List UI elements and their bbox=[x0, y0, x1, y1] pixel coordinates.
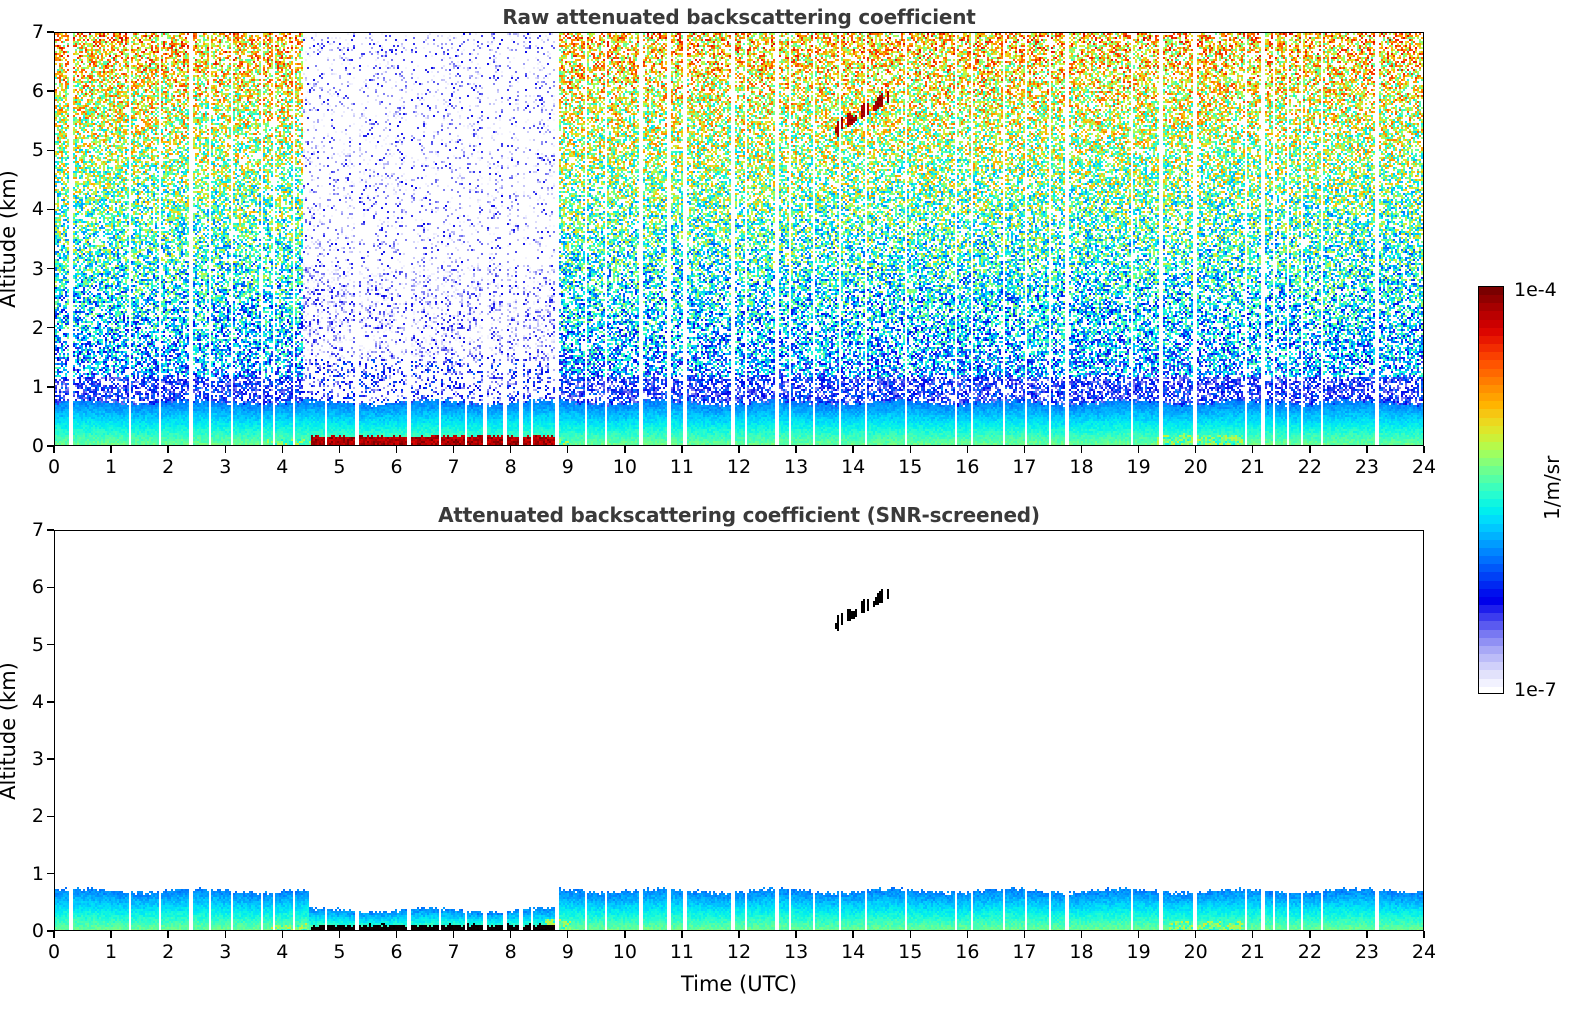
x-tick-mark bbox=[339, 446, 340, 453]
colorbar-segment bbox=[1479, 458, 1503, 466]
x-tick-mark bbox=[225, 931, 226, 938]
x-tick-label: 24 bbox=[1412, 456, 1436, 478]
x-tick-mark bbox=[1423, 931, 1424, 938]
x-tick-mark bbox=[167, 931, 168, 938]
x-tick-mark bbox=[1309, 931, 1310, 938]
x-tick-mark bbox=[282, 446, 283, 453]
x-tick-mark bbox=[510, 931, 511, 938]
colorbar-segment bbox=[1479, 311, 1503, 319]
x-tick-mark bbox=[396, 931, 397, 938]
y-tick-mark bbox=[47, 268, 54, 269]
y-tick-mark bbox=[47, 445, 54, 446]
raw-backscatter-heatmap bbox=[55, 33, 1424, 446]
colorbar-segment bbox=[1479, 687, 1503, 694]
x-tick-label: 20 bbox=[1184, 941, 1208, 963]
y-tick-mark bbox=[47, 386, 54, 387]
colorbar-segment bbox=[1479, 613, 1503, 621]
colorbar-segment bbox=[1479, 524, 1503, 532]
x-tick-label: 23 bbox=[1355, 456, 1379, 478]
x-tick-label: 6 bbox=[390, 456, 402, 478]
x-tick-label: 4 bbox=[276, 941, 288, 963]
x-tick-mark bbox=[1366, 931, 1367, 938]
y-tick-label: 1 bbox=[14, 863, 44, 885]
x-tick-mark bbox=[795, 446, 796, 453]
raw-panel-title: Raw attenuated backscattering coefficien… bbox=[54, 5, 1424, 29]
lidar-quicklook-figure: Raw attenuated backscattering coefficien… bbox=[0, 0, 1595, 1020]
x-tick-mark bbox=[1195, 446, 1196, 453]
colorbar-segment bbox=[1479, 336, 1503, 344]
x-tick-label: 6 bbox=[390, 941, 402, 963]
y-tick-mark bbox=[47, 209, 54, 210]
x-tick-label: 1 bbox=[105, 941, 117, 963]
screened-panel-title: Attenuated backscattering coefficient (S… bbox=[54, 503, 1424, 527]
colorbar-segment bbox=[1479, 426, 1503, 434]
x-tick-label: 11 bbox=[670, 941, 694, 963]
x-tick-mark bbox=[624, 931, 625, 938]
x-tick-label: 23 bbox=[1355, 941, 1379, 963]
colorbar-segment bbox=[1479, 499, 1503, 507]
colorbar-segment bbox=[1479, 589, 1503, 597]
x-tick-mark bbox=[1081, 446, 1082, 453]
x-tick-label: 15 bbox=[898, 456, 922, 478]
colorbar-segment bbox=[1479, 532, 1503, 540]
colorbar-segment bbox=[1479, 540, 1503, 548]
x-tick-label: 1 bbox=[105, 456, 117, 478]
colorbar-segment bbox=[1479, 638, 1503, 646]
colorbar-segment bbox=[1479, 572, 1503, 580]
y-tick-label: 2 bbox=[14, 805, 44, 827]
x-tick-label: 13 bbox=[784, 941, 808, 963]
colorbar-segment bbox=[1479, 548, 1503, 556]
colorbar-segment bbox=[1479, 450, 1503, 458]
x-tick-mark bbox=[1024, 446, 1025, 453]
x-tick-label: 16 bbox=[955, 941, 979, 963]
y-tick-label: 5 bbox=[14, 139, 44, 161]
x-tick-mark bbox=[1195, 931, 1196, 938]
colorbar-segment bbox=[1479, 491, 1503, 499]
colorbar-segment bbox=[1479, 360, 1503, 368]
x-tick-label: 14 bbox=[841, 456, 865, 478]
x-tick-label: 22 bbox=[1298, 456, 1322, 478]
x-tick-label: 15 bbox=[898, 941, 922, 963]
colorbar-min-label: 1e-7 bbox=[1514, 679, 1557, 701]
x-tick-mark bbox=[567, 931, 568, 938]
x-tick-mark bbox=[1252, 931, 1253, 938]
x-tick-label: 19 bbox=[1126, 941, 1150, 963]
x-tick-label: 21 bbox=[1241, 941, 1265, 963]
colorbar-segment bbox=[1479, 369, 1503, 377]
colorbar-units-label: 1/m/sr bbox=[1540, 456, 1564, 520]
x-tick-label: 18 bbox=[1069, 941, 1093, 963]
x-tick-mark bbox=[967, 931, 968, 938]
x-tick-label: 3 bbox=[219, 456, 231, 478]
x-tick-label: 0 bbox=[48, 456, 60, 478]
x-tick-mark bbox=[453, 446, 454, 453]
y-tick-mark bbox=[47, 816, 54, 817]
colorbar-segment bbox=[1479, 344, 1503, 352]
x-tick-mark bbox=[1252, 446, 1253, 453]
colorbar-segment bbox=[1479, 475, 1503, 483]
x-tick-mark bbox=[852, 931, 853, 938]
x-tick-label: 0 bbox=[48, 941, 60, 963]
raw-panel-y-axis-label: Altitude (km) bbox=[0, 170, 20, 308]
x-tick-label: 19 bbox=[1126, 456, 1150, 478]
y-tick-label: 7 bbox=[14, 21, 44, 43]
colorbar-segment bbox=[1479, 605, 1503, 613]
colorbar-segment bbox=[1479, 515, 1503, 523]
y-tick-label: 6 bbox=[14, 576, 44, 598]
y-tick-mark bbox=[47, 90, 54, 91]
x-tick-mark bbox=[339, 931, 340, 938]
colorbar-segment bbox=[1479, 662, 1503, 670]
y-tick-mark bbox=[47, 529, 54, 530]
x-tick-label: 12 bbox=[727, 941, 751, 963]
x-tick-mark bbox=[1138, 446, 1139, 453]
x-tick-label: 18 bbox=[1069, 456, 1093, 478]
colorbar-segment bbox=[1479, 507, 1503, 515]
raw-panel-axes bbox=[54, 32, 1424, 446]
x-tick-label: 9 bbox=[562, 456, 574, 478]
x-tick-mark bbox=[453, 931, 454, 938]
colorbar-segment bbox=[1479, 483, 1503, 491]
y-tick-mark bbox=[47, 327, 54, 328]
x-tick-label: 14 bbox=[841, 941, 865, 963]
x-tick-mark bbox=[910, 931, 911, 938]
x-tick-label: 5 bbox=[333, 456, 345, 478]
x-tick-mark bbox=[681, 931, 682, 938]
x-tick-mark bbox=[624, 446, 625, 453]
x-tick-label: 17 bbox=[1012, 456, 1036, 478]
y-tick-mark bbox=[47, 150, 54, 151]
y-tick-label: 2 bbox=[14, 317, 44, 339]
colorbar-segment bbox=[1479, 377, 1503, 385]
colorbar-segment bbox=[1479, 287, 1503, 295]
y-tick-mark bbox=[47, 587, 54, 588]
x-tick-label: 2 bbox=[162, 941, 174, 963]
colorbar-segment bbox=[1479, 385, 1503, 393]
x-tick-mark bbox=[510, 446, 511, 453]
colorbar-segment bbox=[1479, 320, 1503, 328]
colorbar-segment bbox=[1479, 418, 1503, 426]
x-tick-mark bbox=[53, 446, 54, 453]
colorbar-segment bbox=[1479, 581, 1503, 589]
y-tick-mark bbox=[47, 930, 54, 931]
x-tick-mark bbox=[1309, 446, 1310, 453]
x-tick-label: 2 bbox=[162, 456, 174, 478]
colorbar-segment bbox=[1479, 393, 1503, 401]
colorbar-segment bbox=[1479, 466, 1503, 474]
colorbar-max-label: 1e-4 bbox=[1514, 279, 1557, 301]
x-tick-mark bbox=[967, 446, 968, 453]
x-tick-label: 20 bbox=[1184, 456, 1208, 478]
colorbar-segment bbox=[1479, 303, 1503, 311]
x-tick-label: 24 bbox=[1412, 941, 1436, 963]
x-tick-mark bbox=[910, 446, 911, 453]
colorbar-segment bbox=[1479, 556, 1503, 564]
x-tick-label: 10 bbox=[613, 941, 637, 963]
y-tick-label: 0 bbox=[14, 435, 44, 457]
x-tick-label: 7 bbox=[448, 941, 460, 963]
colorbar-segment bbox=[1479, 646, 1503, 654]
colorbar-segment bbox=[1479, 352, 1503, 360]
screened-panel-x-axis-label: Time (UTC) bbox=[681, 972, 797, 996]
x-tick-mark bbox=[1423, 446, 1424, 453]
x-tick-mark bbox=[1138, 931, 1139, 938]
colorbar-segment bbox=[1479, 434, 1503, 442]
colorbar-segment bbox=[1479, 597, 1503, 605]
x-tick-mark bbox=[681, 446, 682, 453]
y-tick-mark bbox=[47, 758, 54, 759]
x-tick-mark bbox=[1024, 931, 1025, 938]
x-tick-mark bbox=[852, 446, 853, 453]
colorbar-segment bbox=[1479, 621, 1503, 629]
colorbar-segment bbox=[1479, 409, 1503, 417]
screened-backscatter-heatmap bbox=[55, 531, 1424, 931]
x-tick-mark bbox=[738, 931, 739, 938]
x-tick-label: 7 bbox=[448, 456, 460, 478]
colorbar-segment bbox=[1479, 564, 1503, 572]
x-tick-label: 21 bbox=[1241, 456, 1265, 478]
backscatter-colorbar bbox=[1478, 286, 1504, 694]
y-tick-mark bbox=[47, 644, 54, 645]
y-tick-label: 1 bbox=[14, 376, 44, 398]
y-tick-mark bbox=[47, 873, 54, 874]
x-tick-mark bbox=[110, 446, 111, 453]
x-tick-label: 16 bbox=[955, 456, 979, 478]
y-tick-label: 0 bbox=[14, 920, 44, 942]
colorbar-segment bbox=[1479, 401, 1503, 409]
x-tick-mark bbox=[1366, 446, 1367, 453]
x-tick-label: 3 bbox=[219, 941, 231, 963]
x-tick-mark bbox=[738, 446, 739, 453]
y-tick-label: 5 bbox=[14, 634, 44, 656]
y-tick-mark bbox=[47, 701, 54, 702]
colorbar-segment bbox=[1479, 670, 1503, 678]
x-tick-mark bbox=[567, 446, 568, 453]
x-tick-label: 12 bbox=[727, 456, 751, 478]
x-tick-label: 11 bbox=[670, 456, 694, 478]
colorbar-segment bbox=[1479, 679, 1503, 687]
x-tick-label: 8 bbox=[505, 941, 517, 963]
y-tick-label: 7 bbox=[14, 519, 44, 541]
x-tick-label: 13 bbox=[784, 456, 808, 478]
x-tick-mark bbox=[396, 446, 397, 453]
x-tick-mark bbox=[167, 446, 168, 453]
x-tick-label: 10 bbox=[613, 456, 637, 478]
colorbar-segment bbox=[1479, 442, 1503, 450]
x-tick-label: 4 bbox=[276, 456, 288, 478]
x-tick-mark bbox=[110, 931, 111, 938]
x-tick-mark bbox=[53, 931, 54, 938]
x-tick-mark bbox=[225, 446, 226, 453]
x-tick-label: 8 bbox=[505, 456, 517, 478]
y-tick-mark bbox=[47, 31, 54, 32]
x-tick-label: 17 bbox=[1012, 941, 1036, 963]
x-tick-mark bbox=[795, 931, 796, 938]
y-tick-label: 6 bbox=[14, 80, 44, 102]
screened-panel-y-axis-label: Altitude (km) bbox=[0, 662, 20, 800]
x-tick-label: 22 bbox=[1298, 941, 1322, 963]
x-tick-mark bbox=[1081, 931, 1082, 938]
x-tick-label: 5 bbox=[333, 941, 345, 963]
colorbar-segment bbox=[1479, 630, 1503, 638]
colorbar-segment bbox=[1479, 654, 1503, 662]
colorbar-segment bbox=[1479, 295, 1503, 303]
x-tick-label: 9 bbox=[562, 941, 574, 963]
screened-panel-axes bbox=[54, 530, 1424, 931]
x-tick-mark bbox=[282, 931, 283, 938]
colorbar-segment bbox=[1479, 328, 1503, 336]
